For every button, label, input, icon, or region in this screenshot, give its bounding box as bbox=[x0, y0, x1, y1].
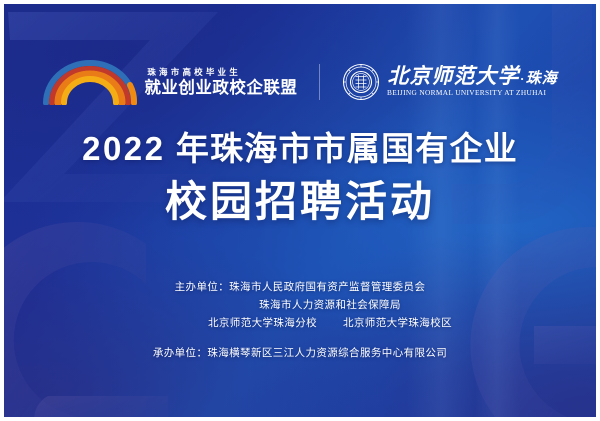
host-line-2: 珠海市人力资源和社会保障局 bbox=[4, 296, 596, 314]
host-org-3a: 北京师范大学珠海分校 bbox=[208, 317, 317, 329]
organizer-line-1: 承办单位：珠海横琴新区三江人力资源综合服务中心有限公司 bbox=[4, 344, 596, 362]
page-title: 2022 年珠海市市属国有企业 校园招聘活动 bbox=[4, 130, 596, 227]
organizer-org-1: 珠海横琴新区三江人力资源综合服务中心有限公司 bbox=[207, 347, 447, 359]
alliance-main-title: 就业创业政校企联盟 bbox=[144, 80, 297, 97]
title-line-2: 校园招聘活动 bbox=[4, 176, 596, 227]
title-line-1: 2022 年珠海市市属国有企业 bbox=[4, 130, 596, 169]
title-line-1-text: 年珠海市市属国有企业 bbox=[176, 130, 518, 167]
organizer-block: 主办单位：珠海市人民政府国有资产监督管理委员会 珠海市人力资源和社会保障局 北京… bbox=[4, 278, 596, 362]
host-org-2: 珠海市人力资源和社会保障局 bbox=[259, 299, 401, 311]
organizer-spacer bbox=[4, 332, 596, 344]
host-line-1: 主办单位：珠海市人民政府国有资产监督管理委员会 bbox=[4, 278, 596, 296]
logo-divider bbox=[319, 64, 320, 100]
bnu-cn-place: 珠海 bbox=[526, 71, 558, 87]
title-year: 2022 bbox=[82, 130, 165, 167]
bnu-seal-icon bbox=[342, 63, 380, 101]
host-org-1: 珠海市人民政府国有资产监督管理委员会 bbox=[229, 281, 425, 293]
bnu-english-name: BEIJING NORMAL UNIVERSITY AT ZHUHAI bbox=[387, 90, 561, 97]
logo-row: 珠海市高校毕业生 就业创业政校企联盟 bbox=[4, 59, 596, 105]
bnu-logo-text: 北京师范大学·珠海 BEIJING NORMAL UNIVERSITY AT Z… bbox=[387, 66, 557, 97]
poster-root: 珠海市高校毕业生 就业创业政校企联盟 bbox=[0, 0, 600, 421]
alliance-sub-title: 珠海市高校毕业生 bbox=[144, 68, 297, 77]
organizer-label: 承办单位： bbox=[153, 347, 208, 359]
bnu-chinese-name: 北京师范大学·珠海 bbox=[387, 66, 557, 87]
alliance-logo: 珠海市高校毕业生 就业创业政校企联盟 bbox=[42, 59, 297, 105]
host-line-3: 北京师范大学珠海分校北京师范大学珠海校区 bbox=[4, 314, 596, 332]
poster-canvas: 珠海市高校毕业生 就业创业政校企联盟 bbox=[4, 4, 596, 417]
bnu-logo: 北京师范大学·珠海 BEIJING NORMAL UNIVERSITY AT Z… bbox=[342, 63, 557, 101]
rainbow-arch-icon bbox=[42, 59, 138, 105]
alliance-logo-text: 珠海市高校毕业生 就业创业政校企联盟 bbox=[144, 68, 297, 96]
poster-content: 珠海市高校毕业生 就业创业政校企联盟 bbox=[4, 4, 596, 417]
host-label: 主办单位： bbox=[175, 281, 230, 293]
host-org-3b: 北京师范大学珠海校区 bbox=[343, 317, 452, 329]
bnu-cn-main: 北京师范大学 bbox=[387, 64, 519, 88]
